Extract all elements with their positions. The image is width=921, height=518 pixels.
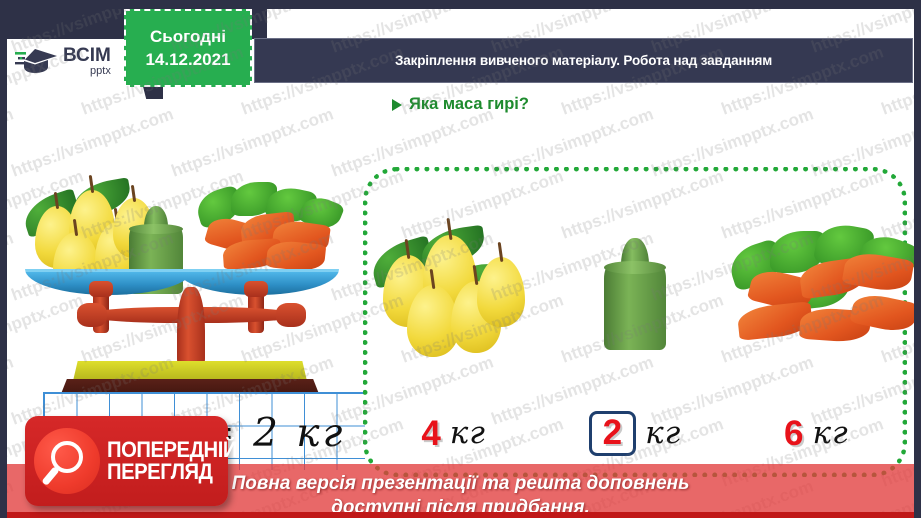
answer-unit-carrots: кг — [812, 418, 848, 449]
logo-sub-text: pptx — [63, 66, 111, 77]
watermark-text: https://vsimpptx.com — [7, 104, 16, 181]
scale-base-top — [73, 361, 307, 381]
preview-button-line1: ПОПЕРЕДНІЙ — [107, 439, 237, 461]
watermark-text: https://vsimpptx.com — [7, 228, 16, 305]
question-text: Яка маса гирі? — [409, 95, 529, 114]
answer-value-pears: 4 — [421, 416, 440, 451]
weight-icon — [604, 238, 666, 350]
slide-root: ВСІМ pptx Сьогодні 14.12.2021 Закріпленн… — [0, 0, 921, 518]
purchase-banner-line1: Повна версія презентації та решта доповн… — [232, 472, 690, 495]
preview-button-line2: ПЕРЕГЛЯД — [107, 461, 237, 483]
date-badge: Сьогодні 14.12.2021 — [124, 9, 252, 87]
answer-value-weight[interactable]: 2 — [589, 411, 636, 456]
answer-value-carrots: 6 — [784, 416, 803, 451]
slide-canvas: ВСІМ pptx Сьогодні 14.12.2021 Закріпленн… — [7, 9, 914, 518]
answer-items — [363, 179, 907, 409]
answer-label-carrots: 6 кг — [726, 416, 906, 451]
balance-scale-illustration — [17, 164, 342, 399]
scale-column — [177, 287, 205, 367]
preview-button[interactable]: ПОПЕРЕДНІЙ ПЕРЕГЛЯД — [25, 416, 228, 506]
magnifier-icon — [34, 428, 100, 494]
answer-label-pears: 4 кг — [364, 416, 544, 451]
logo-main-text: ВСІМ — [63, 46, 111, 65]
answer-unit-pears: кг — [450, 418, 486, 449]
answer-labels-row: 4 кг 2 кг 6 кг — [363, 407, 907, 459]
date-badge-label: Сьогодні — [150, 27, 226, 47]
pears-icon — [371, 219, 536, 369]
graduation-cap-icon — [15, 45, 59, 77]
question-row: Яка маса гирі? — [7, 95, 914, 114]
answer-item-carrots[interactable] — [726, 194, 906, 394]
carrots-icon — [726, 217, 906, 372]
answer-item-weight[interactable] — [545, 194, 725, 394]
arrow-bullet-icon — [392, 99, 402, 111]
page-title: Закріплення вивченого матеріалу. Робота … — [395, 53, 772, 68]
header-band: Закріплення вивченого матеріалу. Робота … — [254, 38, 913, 83]
answer-label-weight: 2 кг — [545, 411, 725, 456]
watermark-text: https://vsimpptx.com — [7, 352, 16, 429]
answer-unit-weight: кг — [645, 418, 681, 449]
banner-bottom-strip — [7, 512, 914, 518]
brand-logo: ВСІМ pptx — [15, 39, 123, 83]
date-badge-value: 14.12.2021 — [145, 50, 230, 70]
answer-item-pears[interactable] — [364, 194, 544, 394]
